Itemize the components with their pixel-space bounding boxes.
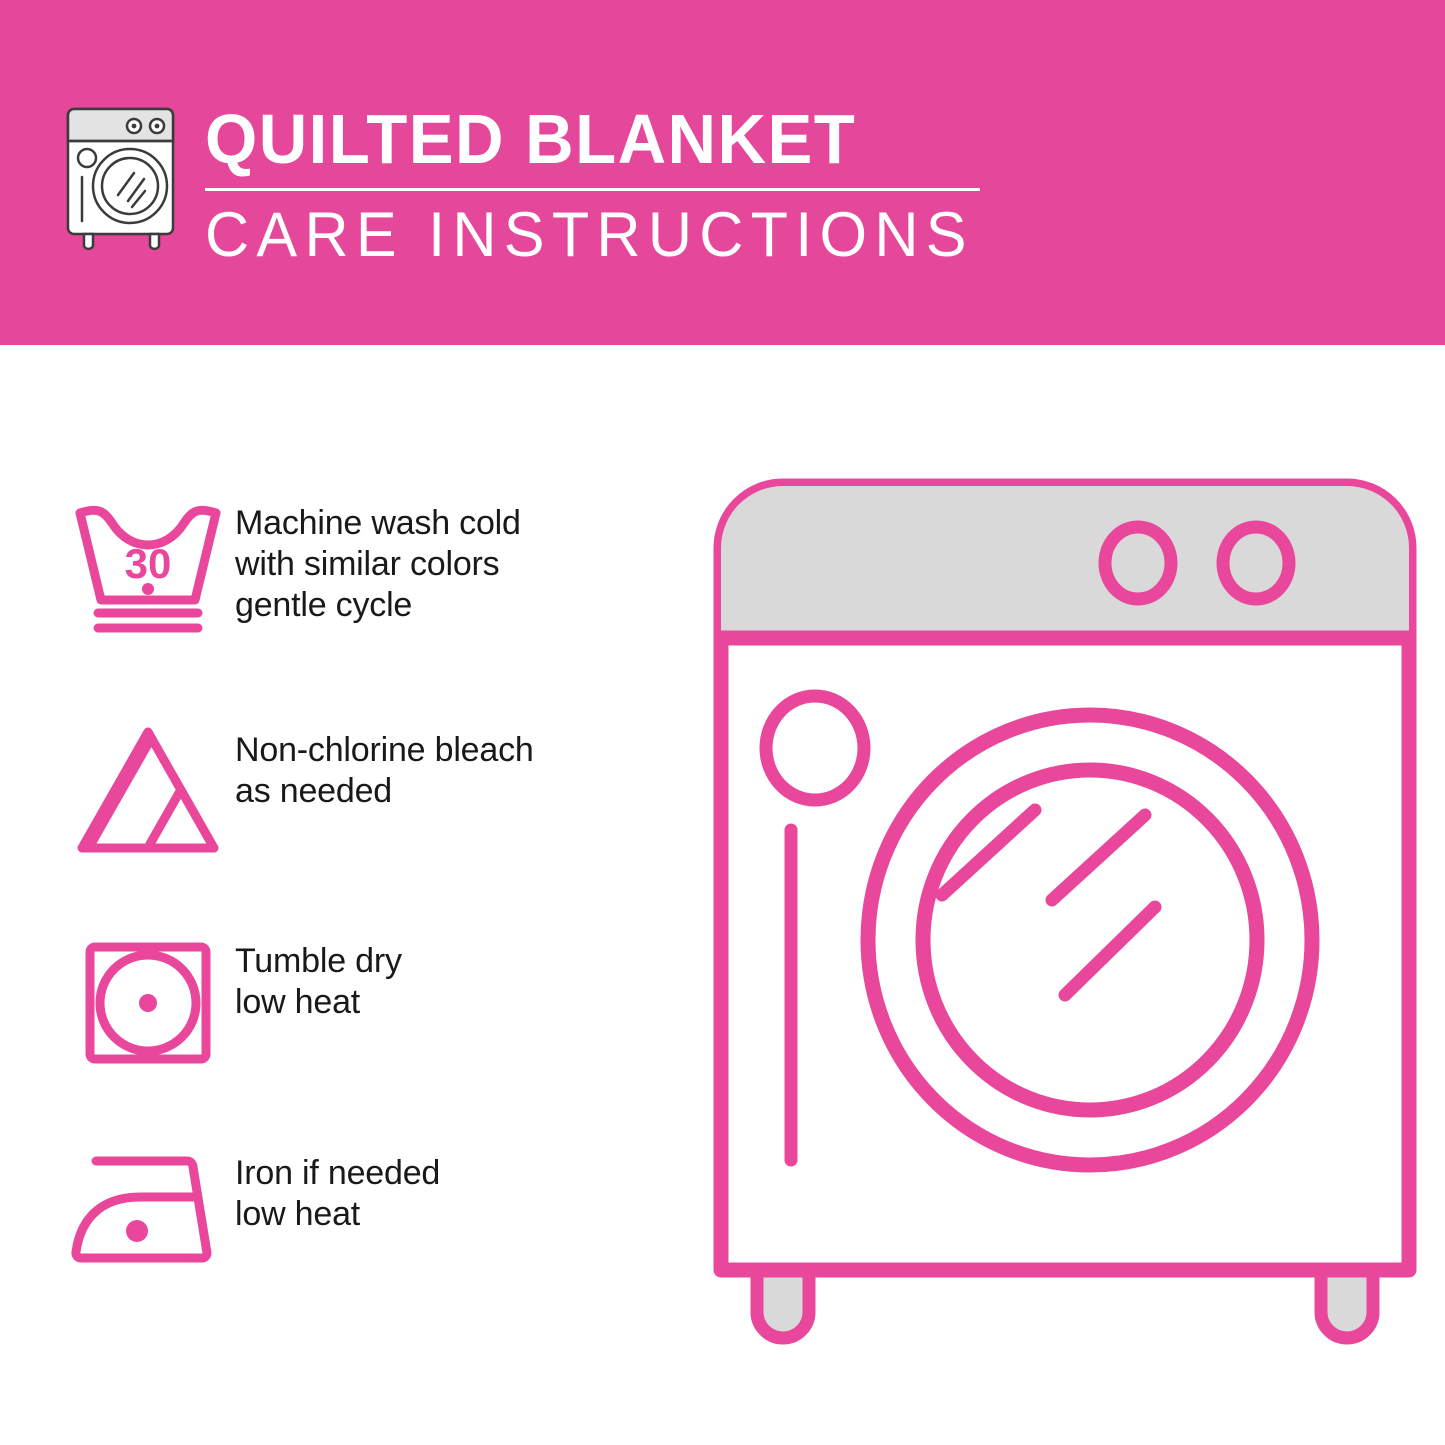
washer-detergent-port	[766, 696, 864, 800]
iron-low-heat-icon	[65, 1145, 230, 1275]
care-row-iron: Iron if needed low heat	[60, 1145, 680, 1275]
care-symbol-iron	[60, 1145, 235, 1275]
care-row-wash: 30 Machine wash cold with similar colors…	[60, 495, 680, 635]
care-instructions-infographic: QUILTED BLANKET CARE INSTRUCTIONS 30	[0, 0, 1445, 1445]
wash-dot-icon	[142, 583, 154, 595]
washer-control-panel	[721, 486, 1409, 638]
page-subtitle: CARE INSTRUCTIONS	[205, 199, 971, 271]
care-text-iron: Iron if needed low heat	[235, 1145, 440, 1235]
care-symbol-bleach	[60, 722, 235, 862]
page-title: QUILTED BLANKET	[205, 100, 963, 178]
title-divider	[205, 188, 980, 191]
tumble-dry-low-icon	[78, 933, 218, 1073]
care-symbol-wash: 30	[60, 495, 235, 635]
washer-door-inner-ring	[923, 770, 1257, 1110]
header-banner: QUILTED BLANKET CARE INSTRUCTIONS	[0, 0, 1445, 345]
care-row-tumble-dry: Tumble dry low heat	[60, 933, 680, 1073]
front-load-washing-machine-illustration	[705, 470, 1425, 1360]
non-chlorine-bleach-triangle-icon	[68, 722, 228, 862]
washer-knob-2	[1223, 527, 1289, 599]
washer-knob-1	[1105, 527, 1171, 599]
care-text-tumble-dry: Tumble dry low heat	[235, 933, 402, 1023]
washing-machine-icon	[60, 103, 190, 253]
care-text-bleach: Non-chlorine bleach as needed	[235, 722, 534, 812]
header-title-block: QUILTED BLANKET CARE INSTRUCTIONS	[205, 100, 995, 271]
care-symbol-tumble-dry	[60, 933, 235, 1073]
care-row-bleach: Non-chlorine bleach as needed	[60, 722, 680, 862]
wash-tub-30-gentle-icon: 30	[68, 495, 228, 635]
tumble-dry-dot-icon	[139, 994, 157, 1012]
wash-temperature-label: 30	[124, 540, 171, 587]
care-text-wash: Machine wash cold with similar colors ge…	[235, 495, 521, 626]
iron-dot-icon	[126, 1220, 148, 1242]
